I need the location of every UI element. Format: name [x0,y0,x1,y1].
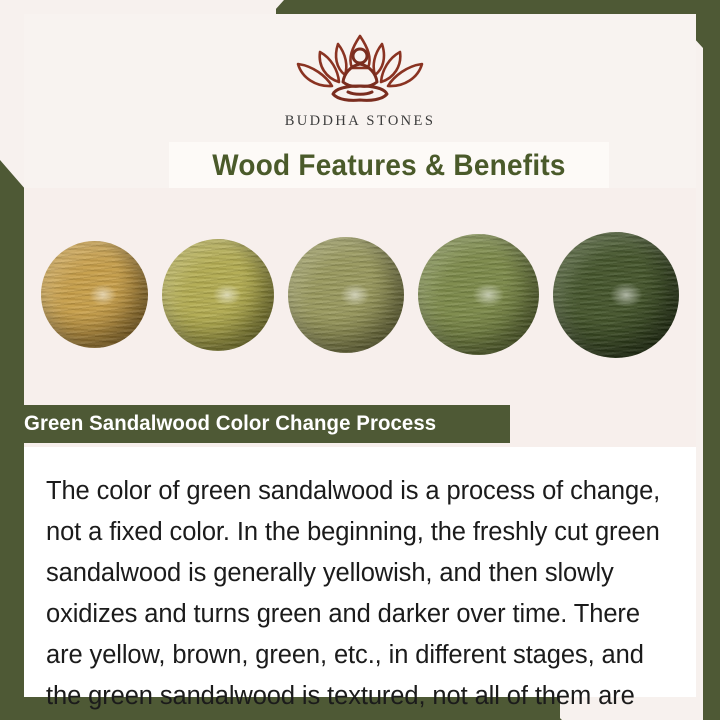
wood-grain-texture-secondary [41,241,148,348]
page-title-box: Wood Features & Benefits [169,142,609,189]
header-panel: BUDDHA STONES Wood Features & Benefits [24,14,696,188]
wood-grain-texture-secondary [553,232,679,358]
page-title: Wood Features & Benefits [212,149,565,183]
bead-stage-2 [162,239,274,351]
bead-stage-5 [553,232,679,358]
body-panel: The color of green sandalwood is a proce… [24,447,696,697]
frame-top-bar [276,0,720,15]
bead-stage-1 [41,241,148,348]
poster-canvas: BUDDHA STONES Wood Features & Benefits G… [0,0,720,720]
bead-gallery-panel [24,188,696,401]
section-banner-arrow-tail [480,405,506,443]
frame-right-bar [703,15,720,720]
brand-logo: BUDDHA STONES [24,30,696,130]
wood-grain-texture-secondary [418,234,539,355]
body-paragraph: The color of green sandalwood is a proce… [46,471,676,720]
bead-row [24,188,696,401]
wood-grain-texture-secondary [288,237,404,353]
bead-stage-3 [288,237,404,353]
brand-name: BUDDHA STONES [285,113,436,130]
bead-stage-4 [418,234,539,355]
wood-grain-texture-secondary [162,239,274,351]
frame-left-top-notch [0,160,26,190]
section-banner-label: Green Sandalwood Color Change Process [24,405,436,443]
lotus-meditation-icon [276,30,444,106]
frame-left-bar [0,188,24,720]
